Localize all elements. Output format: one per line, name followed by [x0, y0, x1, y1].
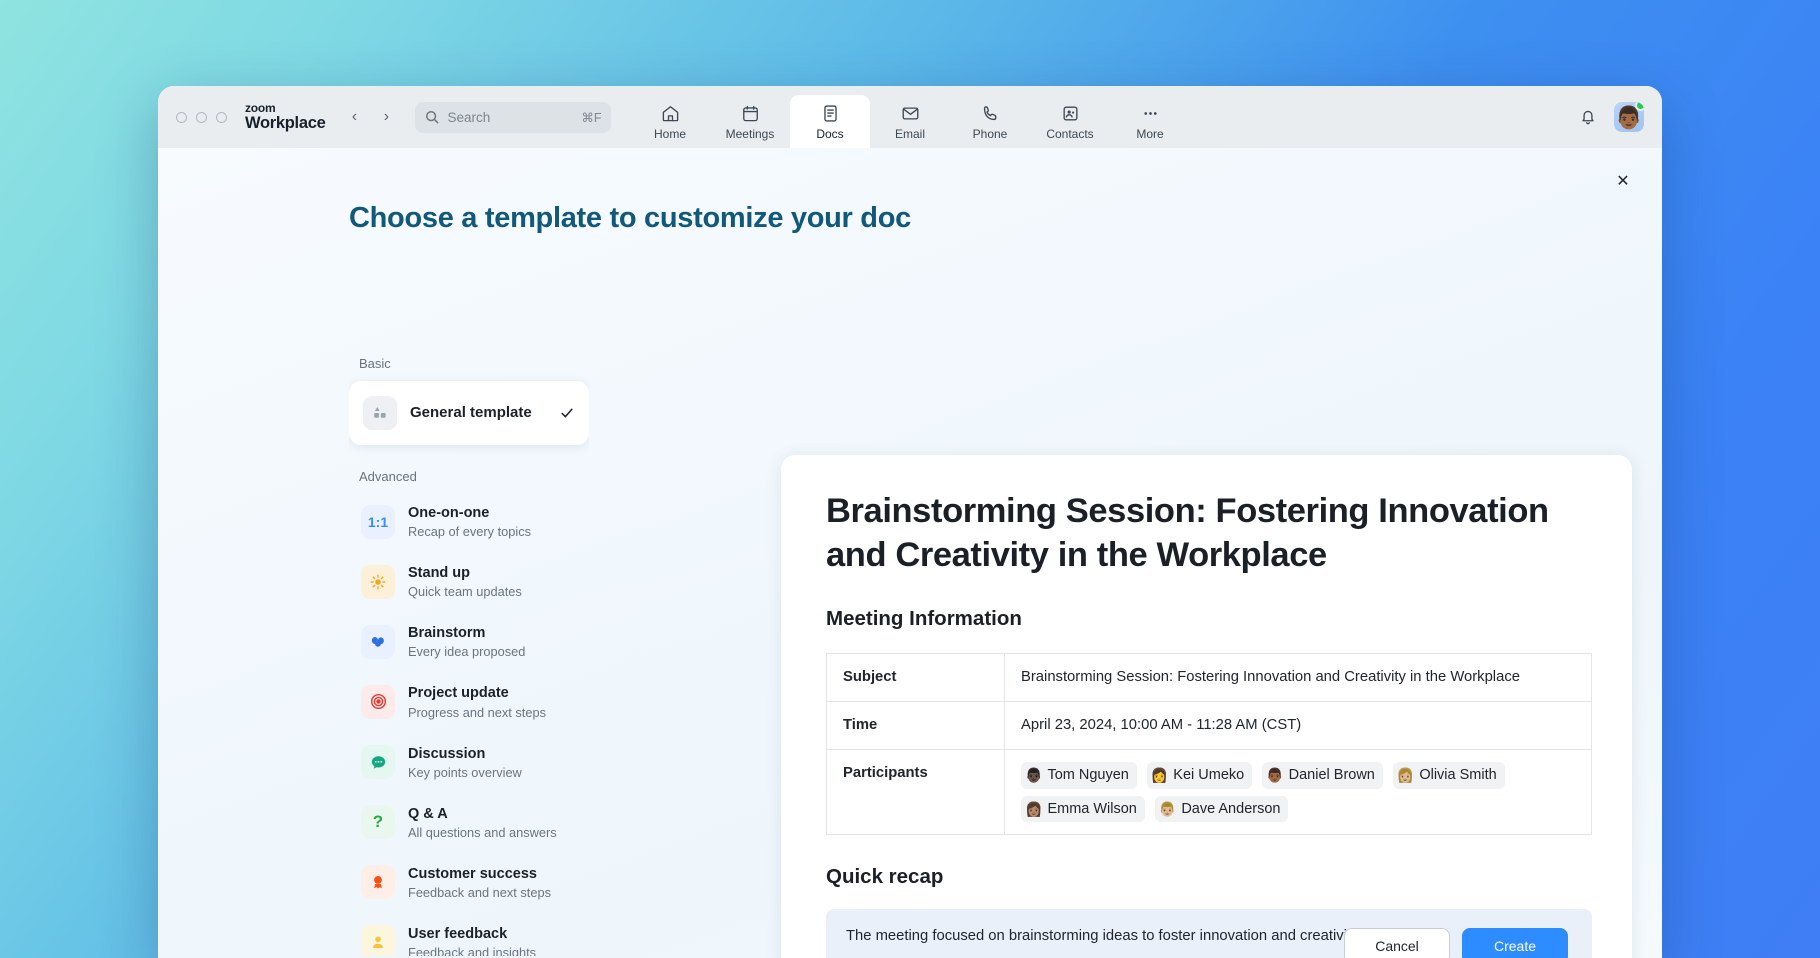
template-item-one-on-one[interactable]: 1:1 One-on-one Recap of every topics — [349, 494, 589, 549]
template-item-desc: Every idea proposed — [408, 644, 577, 659]
maximize-window-button[interactable] — [216, 112, 227, 123]
participant-name: Tom Nguyen — [1047, 764, 1128, 786]
page-title: Choose a template to customize your doc — [349, 202, 911, 235]
template-item-text: General template — [410, 404, 546, 423]
participant-name: Olivia Smith — [1419, 764, 1496, 786]
check-icon — [559, 405, 575, 421]
template-group-advanced-label: Advanced — [359, 469, 589, 484]
table-row: Subject Brainstorming Session: Fostering… — [827, 654, 1592, 702]
table-value-time: April 23, 2024, 10:00 AM - 11:28 AM (CST… — [1005, 702, 1592, 750]
tab-meetings[interactable]: Meetings — [710, 95, 790, 148]
tab-phone[interactable]: Phone — [950, 95, 1030, 148]
phone-icon — [981, 102, 1000, 124]
template-item-user-feedback[interactable]: User feedback Feedback and insights — [349, 915, 589, 956]
template-item-desc: Key points overview — [408, 765, 577, 780]
tab-email[interactable]: Email — [870, 95, 950, 148]
document-preview-card: Brainstorming Session: Fostering Innovat… — [781, 455, 1632, 958]
section-heading-quick-recap: Quick recap — [826, 865, 1587, 889]
table-value-subject: Brainstorming Session: Fostering Innovat… — [1005, 654, 1592, 702]
template-item-project-update[interactable]: Project update Progress and next steps — [349, 674, 589, 729]
template-item-name: One-on-one — [408, 505, 489, 521]
forward-arrow-icon[interactable]: › — [373, 104, 399, 130]
template-item-customer-success[interactable]: Customer success Feedback and next steps — [349, 855, 589, 910]
main-nav-tabs: Home Meetings Docs — [630, 86, 1190, 148]
participant-avatar-icon: 👩🏼 — [1397, 768, 1414, 782]
document-icon — [821, 102, 840, 124]
search-placeholder: Search — [447, 110, 573, 125]
window-traffic-lights — [176, 112, 227, 123]
table-row: Time April 23, 2024, 10:00 AM - 11:28 AM… — [827, 702, 1592, 750]
table-key-time: Time — [827, 702, 1005, 750]
table-key-subject: Subject — [827, 654, 1005, 702]
template-item-name: Stand up — [408, 565, 470, 581]
home-icon — [661, 102, 680, 124]
presence-status-badge — [1635, 102, 1644, 111]
document-title: Brainstorming Session: Fostering Innovat… — [826, 489, 1587, 577]
user-avatar[interactable]: 👨🏾 — [1614, 102, 1644, 132]
template-item-desc: Feedback and insights — [408, 945, 577, 956]
participant-chip[interactable]: 👩🏼 Olivia Smith — [1393, 762, 1505, 788]
one-on-one-icon: 1:1 — [361, 505, 395, 539]
participant-avatar-icon: 👨🏾 — [1266, 768, 1283, 782]
shapes-icon — [363, 396, 397, 430]
tab-home[interactable]: Home — [630, 95, 710, 148]
template-item-name: General template — [410, 404, 532, 421]
section-heading-meeting-information: Meeting Information — [826, 607, 1587, 631]
app-window: zoom Workplace ‹ › Search ⌘F — [158, 86, 1662, 958]
template-item-desc: All questions and answers — [408, 825, 577, 840]
template-item-stand-up[interactable]: Stand up Quick team updates — [349, 554, 589, 609]
cancel-button[interactable]: Cancel — [1344, 928, 1450, 958]
template-item-name: Brainstorm — [408, 625, 485, 641]
template-item-name: Customer success — [408, 866, 537, 882]
template-item-desc: Recap of every topics — [408, 524, 577, 539]
template-item-discussion[interactable]: Discussion Key points overview — [349, 735, 589, 790]
modal-footer-buttons: Cancel Create — [1344, 928, 1568, 958]
tab-meetings-label: Meetings — [726, 127, 775, 141]
notifications-bell-icon[interactable] — [1578, 107, 1598, 127]
template-item-general-template[interactable]: General template — [349, 381, 589, 445]
template-item-name: Project update — [408, 685, 509, 701]
table-row: Participants 👨🏿 Tom Nguyen 👩 Kei Umeko — [827, 750, 1592, 835]
participant-name: Dave Anderson — [1181, 798, 1280, 820]
navigation-arrows: ‹ › — [341, 104, 399, 130]
participant-chip[interactable]: 👩 Kei Umeko — [1147, 762, 1252, 788]
template-item-desc: Quick team updates — [408, 584, 577, 599]
user-icon — [361, 925, 395, 956]
participant-avatar-icon: 👨🏿 — [1025, 768, 1042, 782]
chat-bubble-icon — [361, 745, 395, 779]
brand-zoom-text: zoom — [245, 102, 325, 115]
participant-chip[interactable]: 👨🏼 Dave Anderson — [1155, 796, 1289, 822]
participant-chip[interactable]: 👩🏽 Emma Wilson — [1021, 796, 1145, 822]
participant-name: Emma Wilson — [1047, 798, 1136, 820]
participant-name: Kei Umeko — [1173, 764, 1244, 786]
participant-chip[interactable]: 👨🏿 Tom Nguyen — [1021, 762, 1137, 788]
template-item-q-and-a[interactable]: ? Q & A All questions and answers — [349, 795, 589, 850]
tab-home-label: Home — [654, 127, 686, 141]
participant-avatar-icon: 👨🏼 — [1159, 802, 1176, 816]
participant-avatar-icon: 👩 — [1151, 768, 1168, 782]
back-arrow-icon[interactable]: ‹ — [341, 104, 367, 130]
template-group-basic-label: Basic — [359, 356, 589, 371]
participant-chip-list: 👨🏿 Tom Nguyen 👩 Kei Umeko 👨🏾 Daniel Brow… — [1021, 762, 1575, 822]
template-list-panel[interactable]: Basic General template Advanced — [349, 356, 589, 956]
create-button[interactable]: Create — [1462, 928, 1568, 958]
table-key-participants: Participants — [827, 750, 1005, 835]
template-item-name: User feedback — [408, 926, 507, 942]
meeting-information-table: Subject Brainstorming Session: Fostering… — [826, 653, 1592, 835]
search-input[interactable]: Search ⌘F — [415, 102, 611, 133]
contacts-icon — [1061, 102, 1080, 124]
template-chooser-modal: ✕ Choose a template to customize your do… — [158, 148, 1662, 958]
search-shortcut-hint: ⌘F — [581, 110, 601, 125]
tab-more-label: More — [1136, 127, 1163, 141]
search-icon — [425, 110, 439, 124]
tab-email-label: Email — [895, 127, 925, 141]
tab-phone-label: Phone — [973, 127, 1008, 141]
target-icon — [361, 685, 395, 719]
brand-logo: zoom Workplace — [245, 102, 325, 132]
template-item-name: Q & A — [408, 806, 448, 822]
tab-contacts-label: Contacts — [1046, 127, 1093, 141]
template-item-brainstorm[interactable]: Brainstorm Every idea proposed — [349, 614, 589, 669]
sun-icon — [361, 565, 395, 599]
calendar-icon — [741, 102, 760, 124]
titlebar-right-controls: 👨🏾 — [1578, 86, 1644, 148]
minimize-window-button[interactable] — [196, 112, 207, 123]
participant-chip[interactable]: 👨🏾 Daniel Brown — [1262, 762, 1383, 788]
close-icon[interactable]: ✕ — [1608, 166, 1638, 196]
award-ribbon-icon — [361, 865, 395, 899]
participant-avatar-icon: 👩🏽 — [1025, 802, 1042, 816]
template-item-desc: Progress and next steps — [408, 705, 577, 720]
participant-name: Daniel Brown — [1289, 764, 1375, 786]
template-item-name: Discussion — [408, 746, 485, 762]
tab-contacts[interactable]: Contacts — [1030, 95, 1110, 148]
envelope-icon — [901, 102, 920, 124]
ellipsis-icon — [1141, 102, 1160, 124]
tab-docs-label: Docs — [816, 127, 843, 141]
question-mark-icon: ? — [361, 805, 395, 839]
brand-workplace-text: Workplace — [245, 115, 325, 132]
table-value-participants: 👨🏿 Tom Nguyen 👩 Kei Umeko 👨🏾 Daniel Brow… — [1005, 750, 1592, 835]
template-item-desc: Feedback and next steps — [408, 885, 577, 900]
title-bar: zoom Workplace ‹ › Search ⌘F — [158, 86, 1662, 148]
tab-more[interactable]: More — [1110, 95, 1190, 148]
close-window-button[interactable] — [176, 112, 187, 123]
tab-docs[interactable]: Docs — [790, 95, 870, 148]
brain-icon — [361, 625, 395, 659]
